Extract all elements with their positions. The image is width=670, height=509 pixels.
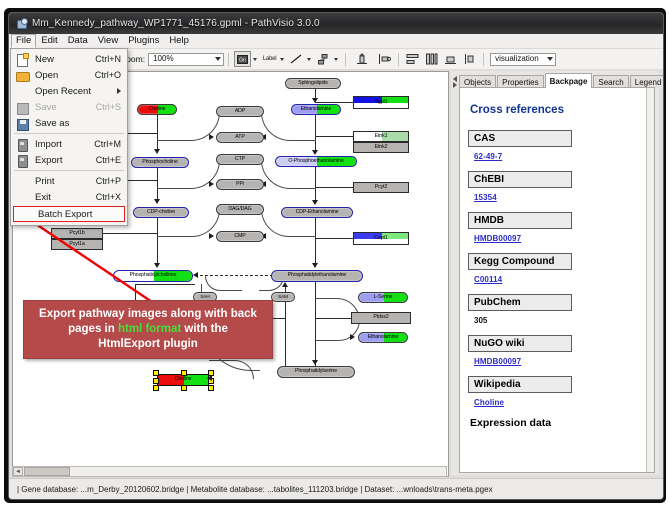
annotation-line2a: pages in <box>68 323 118 335</box>
status-bar: | Gene database: ...m_Derby_20120602.bri… <box>9 478 663 499</box>
annotation-line1: Export pathway images along with back <box>39 308 257 320</box>
line-tool-button[interactable] <box>288 51 305 67</box>
node-label: Ptdss2 <box>373 315 388 320</box>
menu-item-open-recent[interactable]: Open Recent <box>11 83 127 99</box>
db-value-pubchem: 305 <box>474 316 640 325</box>
node-label: Pcyt1b <box>69 231 84 236</box>
node-label: L-Serine <box>374 295 393 300</box>
window-title: Mm_Kennedy_pathway_WP1771_45176.gpml - P… <box>32 18 320 29</box>
menu-item-accel: Ctrl+P <box>96 176 121 186</box>
save-as-icon <box>15 117 31 130</box>
blank-icon-3 <box>15 191 31 204</box>
menu-item-new[interactable]: New Ctrl+N <box>11 51 127 67</box>
interaction-dropdown-icon[interactable] <box>334 58 338 61</box>
db-value-chebi[interactable]: 15354 <box>474 193 640 202</box>
scroll-left-button[interactable]: ◄ <box>13 467 23 476</box>
menu-item-label: New <box>35 54 95 65</box>
menu-item-open[interactable]: Open Ctrl+O <box>11 67 127 83</box>
db-value-nugo-wiki[interactable]: HMDB00097 <box>474 357 640 366</box>
same-height-icon[interactable] <box>461 51 478 67</box>
node-label: SAH <box>200 295 209 300</box>
annotation-text: Export pathway images along with back pa… <box>31 307 265 352</box>
menu-item-label: Print <box>35 176 96 187</box>
expression-data-heading: Expression data <box>470 417 640 429</box>
node-label: CTP <box>235 157 245 162</box>
node-label: CDP-choline <box>147 210 175 215</box>
scroll-thumb[interactable] <box>24 467 70 476</box>
import-icon <box>15 138 31 151</box>
blank-icon-4 <box>18 208 34 221</box>
backpage-content: Cross references CAS 62-49-7 ChEBI 15354… <box>460 88 648 437</box>
menu-plugins[interactable]: Plugins <box>123 34 164 48</box>
zoom-value: 100% <box>153 53 173 65</box>
menu-edit[interactable]: Edit <box>36 34 62 48</box>
db-value-hmdb[interactable]: HMDB00097 <box>474 234 640 243</box>
export-icon <box>15 154 31 167</box>
screenshot-root: Mm_Kennedy_pathway_WP1771_45176.gpml - P… <box>0 0 670 509</box>
label-tool-button[interactable]: Label <box>261 51 278 67</box>
tab-backpage[interactable]: Backpage <box>545 73 593 88</box>
toolbar-separator <box>228 53 229 66</box>
node-label: Etnk2 <box>375 145 388 150</box>
menu-item-label: Open Recent <box>35 86 117 97</box>
node-label: CDP-Ethanolamine <box>296 210 339 215</box>
annotation-line2b: with the <box>181 323 228 335</box>
node-label: Cept1 <box>374 236 387 241</box>
backpage-panel[interactable]: Cross references CAS 62-49-7 ChEBI 15354… <box>459 87 655 473</box>
chevron-down-icon <box>215 57 221 61</box>
menu-item-label: Export <box>35 155 96 166</box>
node-label: SAM <box>278 295 288 300</box>
node-label: Choline <box>175 377 192 382</box>
chevron-down-icon-2 <box>547 57 553 61</box>
blank-icon-2 <box>15 175 31 188</box>
node-label: DAG/DAG <box>228 207 251 212</box>
menu-item-label: Exit <box>35 192 96 203</box>
node-label: Phosphatidylserine <box>295 369 337 374</box>
toolbar-separator-2 <box>345 53 346 66</box>
menu-item-print[interactable]: Print Ctrl+P <box>11 173 127 189</box>
db-label-nugo-wiki: NuGO wiki <box>468 335 572 352</box>
interaction-tool-button[interactable] <box>315 51 332 67</box>
menu-item-label: Import <box>35 139 94 150</box>
db-label-kegg-compound: Kegg Compound <box>468 253 572 270</box>
canvas-horizontal-scrollbar[interactable]: ◄ <box>12 466 447 477</box>
visualization-combobox[interactable]: visualization <box>490 53 556 66</box>
distribute-vertical-icon[interactable] <box>423 51 440 67</box>
db-value-cas[interactable]: 62-49-7 <box>474 152 640 161</box>
db-value-kegg-compound[interactable]: C00114 <box>474 275 640 284</box>
svg-text:Gn: Gn <box>239 57 246 63</box>
menu-bar: File Edit Data View Plugins Help <box>9 34 663 49</box>
cross-references-heading: Cross references <box>470 104 640 116</box>
menu-item-save: Save Ctrl+S <box>11 99 127 115</box>
node-label: Pcyt2 <box>375 185 387 190</box>
tab-scroll-arrows[interactable] <box>452 74 458 87</box>
file-menu-dropdown: New Ctrl+N Open Ctrl+O Open Recent Save … <box>10 48 128 226</box>
annotation-line3: HtmlExport plugin <box>98 338 198 350</box>
node-label: O-Phosphoethanolamine <box>288 159 343 164</box>
line-dropdown-icon[interactable] <box>307 58 311 61</box>
menu-file[interactable]: File <box>11 34 36 48</box>
blank-icon <box>15 85 31 98</box>
menu-item-export[interactable]: Export Ctrl+E <box>11 152 127 168</box>
menu-item-accel: Ctrl+O <box>95 70 121 80</box>
save-icon <box>15 101 31 114</box>
status-text: | Gene database: ...m_Derby_20120602.bri… <box>17 485 493 494</box>
db-label-cas: CAS <box>468 130 572 147</box>
menu-help[interactable]: Help <box>164 34 194 48</box>
node-label: Phosphatidylcholines <box>130 273 177 278</box>
node-label: Ethanolamine <box>368 335 399 340</box>
pathvisio-icon <box>16 18 27 29</box>
annotation-banner: Export pathway images along with back pa… <box>23 300 273 359</box>
menu-item-exit[interactable]: Exit Ctrl+X <box>11 189 127 205</box>
visualization-value: visualization <box>495 53 539 65</box>
align-left-icon[interactable] <box>376 51 393 67</box>
label-tool-glyph: Label <box>263 56 277 62</box>
node-label: ATP <box>235 135 244 140</box>
node-label: ADP <box>235 109 245 114</box>
new-document-icon <box>15 53 31 66</box>
node-label: Sphingolipids <box>298 81 328 86</box>
side-panel: Objects Properties Backpage Search Legen… <box>451 71 659 475</box>
menu-view[interactable]: View <box>93 34 123 48</box>
zoom-combobox[interactable]: 100% <box>148 53 224 66</box>
menu-item-accel: Ctrl+N <box>95 54 121 64</box>
distribute-horizontal-icon[interactable] <box>404 51 421 67</box>
datanode-tool-button[interactable]: Gn <box>234 51 251 67</box>
menu-item-import[interactable]: Import Ctrl+M <box>11 136 127 152</box>
menu-item-label: Batch Export <box>38 209 124 220</box>
node-label: Ethanolamine <box>301 107 332 112</box>
menu-item-label: Save <box>35 102 96 113</box>
menu-data[interactable]: Data <box>63 34 93 48</box>
menu-item-accel: Ctrl+E <box>96 155 121 165</box>
menu-item-save-as[interactable]: Save as <box>11 115 127 131</box>
toolbar-separator-3 <box>398 53 399 66</box>
menu-separator-2 <box>14 170 124 171</box>
title-bar: Mm_Kennedy_pathway_WP1771_45176.gpml - P… <box>9 13 663 35</box>
menu-item-accel: Ctrl+M <box>94 139 121 149</box>
menu-item-label: Save as <box>35 118 121 129</box>
node-label: Etnk1 <box>375 134 388 139</box>
node-label: PPi <box>236 182 244 187</box>
db-label-hmdb: HMDB <box>468 212 572 229</box>
menu-item-batch-export[interactable]: Batch Export <box>13 206 125 222</box>
pathvisio-window: Mm_Kennedy_pathway_WP1771_45176.gpml - P… <box>8 12 664 500</box>
node-label: Phosphatidylethanolamine <box>288 273 346 278</box>
label-dropdown-icon[interactable] <box>280 58 284 61</box>
menu-separator-1 <box>14 133 124 134</box>
db-value-wikipedia[interactable]: Choline <box>474 398 640 407</box>
menu-item-accel: Ctrl+S <box>96 102 121 112</box>
node-label: Phosphocholine <box>142 160 178 165</box>
menu-item-accel: Ctrl+X <box>96 192 121 202</box>
toolbar-separator-4 <box>483 53 484 66</box>
datanode-dropdown-icon[interactable] <box>253 58 257 61</box>
open-folder-icon <box>15 69 31 82</box>
node-label: CMP <box>234 234 245 239</box>
node-label: Sgpl1 <box>375 100 388 105</box>
align-top-icon[interactable] <box>353 51 370 67</box>
backpage-vertical-scrollbar[interactable] <box>646 88 654 472</box>
node-label: Choline <box>149 107 166 112</box>
db-label-chebi: ChEBI <box>468 171 572 188</box>
annotation-line2-highlight: html format <box>118 323 181 335</box>
side-panel-tabs: Objects Properties Backpage Search Legen… <box>459 74 664 88</box>
db-label-wikipedia: Wikipedia <box>468 376 572 393</box>
menu-item-label: Open <box>35 70 95 81</box>
submenu-arrow-icon <box>117 88 121 94</box>
db-label-pubchem: PubChem <box>468 294 572 311</box>
same-width-icon[interactable] <box>442 51 459 67</box>
node-label: Pcyt1a <box>69 242 84 247</box>
